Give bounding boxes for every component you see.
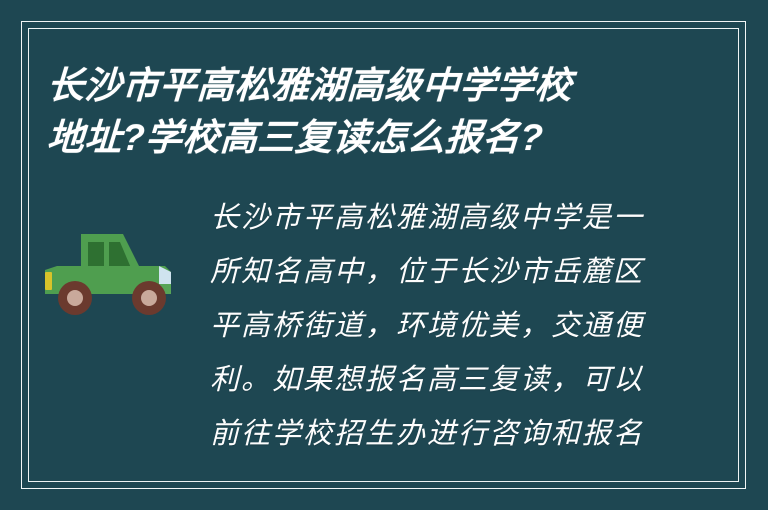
body-line-3: 平高桥街道，环境优美，交通便 [210,298,693,352]
body-line-2: 所知名高中，位于长沙市岳麓区 [210,244,693,298]
green-pickup-truck-icon [41,222,191,326]
content-area: 长沙市平高松雅湖高级中学是一 所知名高中，位于长沙市岳麓区 平高桥街道，环境优美… [28,190,739,482]
page-title-line-1: 长沙市平高松雅湖高级中学学校 [46,60,669,112]
truck-illustration [28,190,204,326]
body-line-1: 长沙市平高松雅湖高级中学是一 [210,190,693,244]
page-title: 长沙市平高松雅湖高级中学学校 地址?学校高三复读怎么报名? [47,60,667,164]
article-body: 长沙市平高松雅湖高级中学是一 所知名高中，位于长沙市岳麓区 平高桥街道，环境优美… [204,190,739,460]
body-line-4: 利。如果想报名高三复读，可以 [210,352,693,406]
page-title-line-2: 地址?学校高三复读怎么报名? [46,112,669,164]
body-line-5: 前往学校招生办进行咨询和报名 [210,406,693,460]
article-card: 长沙市平高松雅湖高级中学学校 地址?学校高三复读怎么报名? [0,0,768,510]
